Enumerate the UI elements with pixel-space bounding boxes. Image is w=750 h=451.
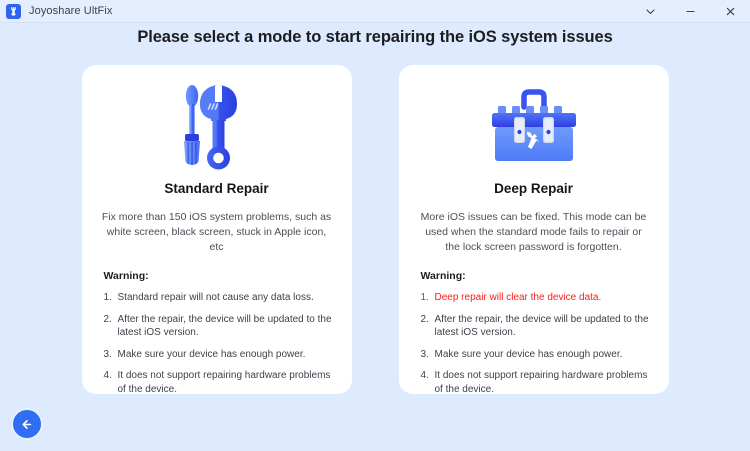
warning-number: 4.: [421, 369, 429, 383]
wrench-app-icon: [6, 4, 21, 19]
warning-list: 1. Standard repair will not cause any da…: [104, 291, 334, 394]
arrow-left-icon: [19, 416, 36, 433]
card-description: More iOS issues can be fixed. This mode …: [419, 210, 649, 255]
chevron-down-icon[interactable]: [630, 0, 670, 23]
close-icon[interactable]: [710, 0, 750, 23]
warning-label: Warning:: [104, 270, 334, 282]
warning-text: After the repair, the device will be upd…: [118, 314, 332, 339]
warning-item: 3. Make sure your device has enough powe…: [104, 348, 334, 362]
app-title: Joyoshare UltFix: [29, 5, 113, 17]
warning-block: Warning: 1. Deep repair will clear the d…: [421, 270, 651, 394]
warning-item: 3. Make sure your device has enough powe…: [421, 348, 651, 362]
mode-card-deep-repair[interactable]: Deep Repair More iOS issues can be fixed…: [399, 65, 669, 394]
page-title: Please select a mode to start repairing …: [0, 28, 750, 47]
warning-number: 2.: [104, 313, 112, 327]
warning-item: 2. After the repair, the device will be …: [421, 313, 651, 340]
warning-text: It does not support repairing hardware p…: [435, 370, 648, 394]
warning-number: 2.: [421, 313, 429, 327]
warning-text: Standard repair will not cause any data …: [118, 292, 314, 303]
warning-item: 4. It does not support repairing hardwar…: [421, 369, 651, 394]
mode-card-standard-repair[interactable]: Standard Repair Fix more than 150 iOS sy…: [82, 65, 352, 394]
toolbox-icon: [399, 65, 669, 177]
title-bar: Joyoshare UltFix: [0, 0, 750, 23]
warning-item: 1. Deep repair will clear the device dat…: [421, 291, 651, 305]
warning-number: 1.: [421, 291, 429, 305]
warning-item: 4. It does not support repairing hardwar…: [104, 369, 334, 394]
minimize-icon[interactable]: [670, 0, 710, 23]
card-description: Fix more than 150 iOS system problems, s…: [102, 210, 332, 255]
warning-label: Warning:: [421, 270, 651, 282]
warning-number: 4.: [104, 369, 112, 383]
warning-text: After the repair, the device will be upd…: [435, 314, 649, 339]
warning-item: 1. Standard repair will not cause any da…: [104, 291, 334, 305]
warning-number: 3.: [104, 348, 112, 362]
warning-list: 1. Deep repair will clear the device dat…: [421, 291, 651, 394]
warning-block: Warning: 1. Standard repair will not cau…: [104, 270, 334, 394]
warning-text: Deep repair will clear the device data.: [435, 292, 602, 303]
card-heading: Standard Repair: [82, 181, 352, 196]
screwdriver-wrench-icon: [82, 65, 352, 177]
warning-text: Make sure your device has enough power.: [435, 349, 623, 360]
mode-cards: Standard Repair Fix more than 150 iOS sy…: [0, 65, 750, 395]
warning-number: 3.: [421, 348, 429, 362]
warning-item: 2. After the repair, the device will be …: [104, 313, 334, 340]
warning-text: Make sure your device has enough power.: [118, 349, 306, 360]
warning-text: It does not support repairing hardware p…: [118, 370, 331, 394]
window-controls: [630, 0, 750, 23]
back-button[interactable]: [11, 408, 43, 440]
warning-number: 1.: [104, 291, 112, 305]
card-heading: Deep Repair: [399, 181, 669, 196]
